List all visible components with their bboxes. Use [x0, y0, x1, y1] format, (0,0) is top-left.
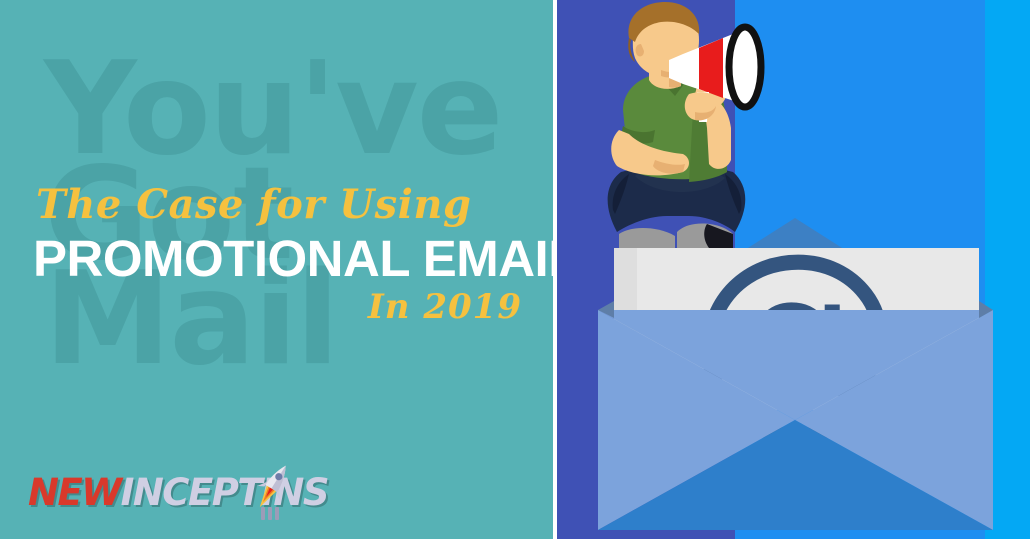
- kicker-text: The Case for Using: [36, 185, 530, 225]
- logo-word-ns: NS: [273, 471, 328, 514]
- left-text-panel: You've Got Mail The Case for Using PROMO…: [0, 0, 553, 539]
- page-title: PROMOTIONAL EMAIL: [33, 233, 530, 284]
- right-illustration-panel: @: [557, 0, 1030, 539]
- megaphone-band: [699, 38, 723, 98]
- site-logo[interactable]: NEW INCEPTINS: [28, 474, 328, 511]
- logo-word-inceptions: INCEPTI: [121, 471, 274, 514]
- headline-stack: The Case for Using PROMOTIONAL EMAIL In …: [0, 185, 530, 324]
- envelope-illustration: @: [557, 0, 1030, 539]
- megaphone-bell: [729, 27, 761, 107]
- logo-word-inceptions-wrap: INCEPTINS: [121, 474, 328, 511]
- logo-word-new: NEW: [28, 474, 121, 511]
- logo-thrust-dashes: [261, 507, 279, 520]
- blog-header-banner: You've Got Mail The Case for Using PROMO…: [0, 0, 1030, 539]
- shoe-left: [619, 228, 675, 248]
- year-text: In 2019: [0, 290, 530, 324]
